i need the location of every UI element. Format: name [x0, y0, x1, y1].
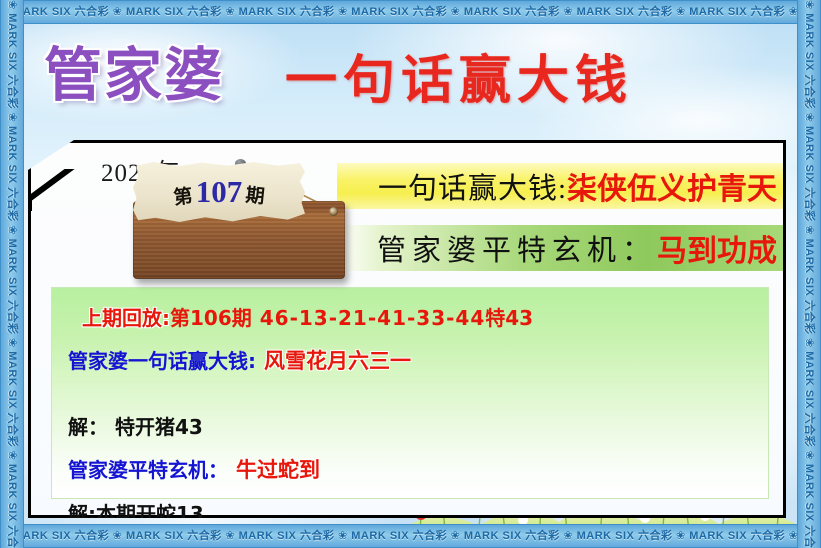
banner-green-value: 马到功成	[657, 226, 777, 270]
slogan-tip-label: 管家婆一句话赢大钱:	[68, 345, 256, 374]
last-draw-label: 上期回放:	[68, 302, 170, 331]
explain-1-text: 解： 特开猪43	[68, 411, 203, 440]
formula-tip-label: 管家婆平特玄机：	[68, 454, 228, 483]
frame-band-text-right: ❀ MARK SIX 六合彩 ❀ MARK SIX 六合彩 ❀ MARK SIX…	[798, 0, 820, 548]
issue-suffix: 期	[245, 180, 267, 209]
row-last-draw: 上期回放: 第106期 46-13-21-41-33-44 特 43	[68, 302, 768, 331]
banner-yellow: 一句话赢大钱: 柒侠伍义护青天	[337, 163, 783, 209]
page-title-brand: 管家婆	[44, 28, 224, 112]
issue-number: 107	[196, 174, 243, 210]
sign-screw-right-icon	[329, 207, 338, 216]
frame-band-text-bottom: ❀ MARK SIX 六合彩 ❀ MARK SIX 六合彩 ❀ MARK SIX…	[0, 525, 821, 547]
row-slogan-tip: 管家婆一句话赢大钱: 风雪花月六三一	[68, 345, 768, 375]
poster-root: 管家婆 一句话赢大钱 2025年 第 107 期 一	[0, 0, 821, 548]
main-panel: 2025年 第 107 期 一句话赢大钱: 柒侠伍义护青天	[28, 140, 786, 518]
banner-green: 管家婆平特玄机： 马到功成	[337, 225, 783, 271]
panel-corner-chamfer	[29, 169, 87, 211]
hanging-issue-sign: 第 107 期	[113, 153, 363, 283]
last-draw-numbers: 46-13-21-41-33-44	[252, 306, 486, 330]
last-draw-special-prefix: 特	[485, 302, 505, 331]
last-draw-issue: 第106期	[170, 302, 252, 331]
banner-yellow-value: 柒侠伍义护青天	[567, 164, 777, 208]
row-formula-tip: 管家婆平特玄机： 牛过蛇到	[68, 454, 768, 484]
banner-green-label: 管家婆平特玄机：	[377, 227, 657, 269]
issue-prefix: 第	[172, 180, 194, 209]
sign-paper: 第 107 期	[133, 162, 305, 222]
row-explain-1: 解： 特开猪43	[68, 411, 768, 440]
frame-border-left: ❀ MARK SIX 六合彩 ❀ MARK SIX 六合彩 ❀ MARK SIX…	[0, 0, 24, 548]
frame-band-text-top: ❀ MARK SIX 六合彩 ❀ MARK SIX 六合彩 ❀ MARK SIX…	[0, 1, 821, 23]
slogan-tip-value: 风雪花月六三一	[256, 345, 411, 375]
banner-yellow-label: 一句话赢大钱:	[378, 165, 567, 207]
frame-band-text-left: ❀ MARK SIX 六合彩 ❀ MARK SIX 六合彩 ❀ MARK SIX…	[1, 0, 23, 548]
frame-border-right: ❀ MARK SIX 六合彩 ❀ MARK SIX 六合彩 ❀ MARK SIX…	[797, 0, 821, 548]
frame-border-bottom: ❀ MARK SIX 六合彩 ❀ MARK SIX 六合彩 ❀ MARK SIX…	[0, 524, 821, 548]
formula-tip-value: 牛过蛇到	[228, 454, 320, 484]
content-box: 上期回放: 第106期 46-13-21-41-33-44 特 43 管家婆一句…	[51, 287, 769, 499]
last-draw-special-number: 43	[505, 306, 533, 330]
page-title-slogan: 一句话赢大钱	[285, 38, 633, 113]
frame-border-top: ❀ MARK SIX 六合彩 ❀ MARK SIX 六合彩 ❀ MARK SIX…	[0, 0, 821, 24]
